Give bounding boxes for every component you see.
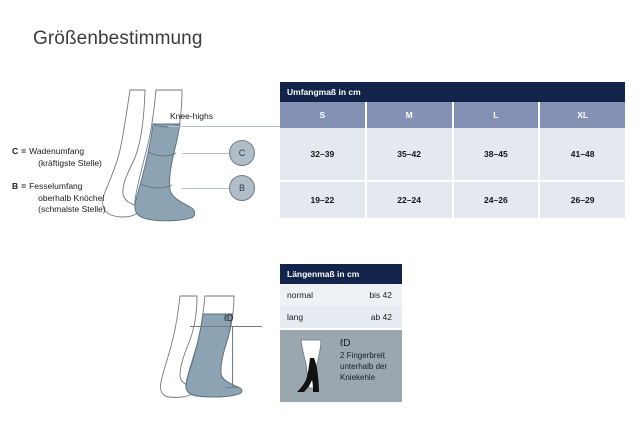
legend-key-c: C xyxy=(12,146,18,169)
size-chart-page: Größenbestimmung Knee-highs C B C = Wade… xyxy=(0,0,639,440)
cell-b-xl: 26–29 xyxy=(540,182,625,218)
cell-c-s: 32–39 xyxy=(280,128,367,180)
legend-eq-b: = xyxy=(21,181,26,216)
page-title: Größenbestimmung xyxy=(33,28,203,50)
ld-note-symbol: ℓD xyxy=(340,338,396,349)
column-header-s: S xyxy=(280,102,367,128)
cell-b-m: 22–24 xyxy=(367,182,454,218)
table-row-c: 32–39 35–42 38–45 41–48 xyxy=(280,128,625,180)
length-label-lang: lang xyxy=(280,306,342,328)
legend-text-c: Wadenumfang (kräftigste Stelle) xyxy=(29,146,102,169)
legend-b-line3: (schmalste Stelle) xyxy=(29,204,106,216)
legend-b-line1: Fesselumfang xyxy=(29,181,82,191)
circumference-table-header-row: S M L XL xyxy=(280,102,625,128)
marker-b: B xyxy=(229,175,255,201)
length-measure-leg-illustration xyxy=(158,292,268,404)
leader-line-c xyxy=(182,153,230,154)
cell-b-l: 24–26 xyxy=(454,182,541,218)
ld-dimension-vertical-line xyxy=(232,326,233,388)
legend-item-b: B = Fesselumfang oberhalb Knöchel (schma… xyxy=(12,181,172,216)
legend-c-line1: Wadenumfang xyxy=(29,146,84,156)
ld-dimension-label: ℓD xyxy=(224,313,233,323)
length-row-lang: lang ab 42 xyxy=(280,306,402,328)
legend-b-line2: oberhalb Knöchel xyxy=(29,193,106,205)
column-header-xl: XL xyxy=(540,102,625,128)
ld-dimension-top-line xyxy=(190,326,262,327)
circumference-table: Umfangmaß in cm S M L XL 32–39 35–42 38–… xyxy=(280,82,625,218)
length-value-normal: bis 42 xyxy=(342,284,402,306)
legend-key-b: B xyxy=(12,181,18,216)
cell-b-s: 19–22 xyxy=(280,182,367,218)
legend-text-b: Fesselumfang oberhalb Knöchel (schmalste… xyxy=(29,181,106,216)
circumference-table-band: Umfangmaß in cm xyxy=(280,82,625,102)
ld-note-panel: ℓD 2 Fingerbreit unterhalb der Kniekehle xyxy=(280,330,402,402)
ld-note-line2: unterhalb der xyxy=(340,362,387,371)
cell-c-xl: 41–48 xyxy=(540,128,625,180)
leg-silhouette-icon xyxy=(288,338,334,394)
legend-c-line2: (kräftigste Stelle) xyxy=(29,158,102,170)
legend-eq-c: = xyxy=(21,146,26,169)
ld-dimension-bottom-cap xyxy=(226,387,239,388)
length-label-normal: normal xyxy=(280,284,342,306)
column-header-l: L xyxy=(454,102,541,128)
legend: C = Wadenumfang (kräftigste Stelle) B = … xyxy=(12,146,172,228)
cell-c-m: 35–42 xyxy=(367,128,454,180)
leader-line-b xyxy=(182,188,230,189)
length-value-lang: ab 42 xyxy=(342,306,402,328)
ld-note-line1: 2 Fingerbreit xyxy=(340,351,385,360)
leader-line-knee xyxy=(168,126,280,127)
cell-c-l: 38–45 xyxy=(454,128,541,180)
legend-item-c: C = Wadenumfang (kräftigste Stelle) xyxy=(12,146,172,169)
length-row-normal: normal bis 42 xyxy=(280,284,402,306)
table-row-b: 19–22 22–24 24–26 26–29 xyxy=(280,182,625,218)
column-header-m: M xyxy=(367,102,454,128)
ld-note-illustration xyxy=(288,338,336,392)
ld-note-line3: Kniekehle xyxy=(340,373,375,382)
length-table: Längenmaß in cm normal bis 42 lang ab 42… xyxy=(280,264,402,402)
marker-c: C xyxy=(229,140,255,166)
knee-highs-label: Knee-highs xyxy=(170,111,213,121)
ld-note-text: ℓD 2 Fingerbreit unterhalb der Kniekehle xyxy=(336,338,396,392)
length-table-band: Längenmaß in cm xyxy=(280,264,402,284)
